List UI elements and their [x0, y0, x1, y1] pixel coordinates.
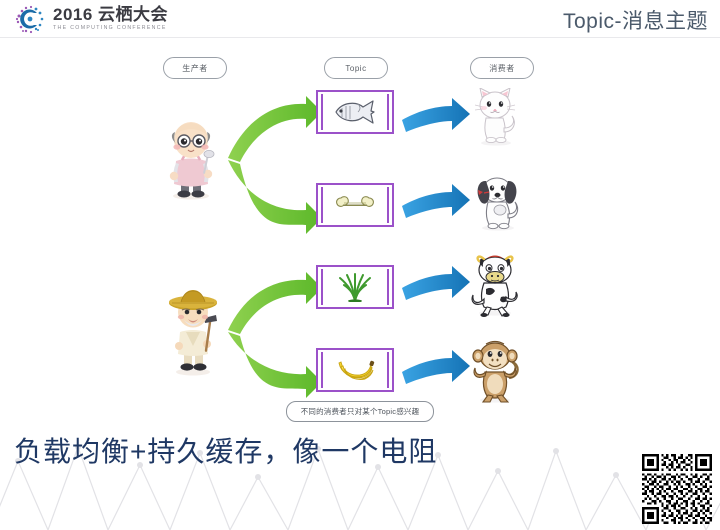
consume-arrow-cow — [402, 266, 470, 300]
logo-sub-text: THE COMPUTING CONFERENCE — [53, 26, 168, 31]
column-label-consumer: 消费者 — [470, 57, 534, 79]
consume-arrow-dog — [402, 184, 470, 218]
producer-farmer — [160, 288, 226, 381]
slide-canvas: 2016 云栖大会 THE COMPUTING CONFERENCE Topic… — [0, 0, 720, 530]
diagram-caption: 不同的消费者只对某个Topic感兴趣 — [286, 401, 434, 422]
page-title: Topic-消息主题 — [563, 5, 708, 35]
logo-main-text: 2016 云栖大会 — [53, 6, 168, 23]
producer-old-man-cook — [160, 118, 222, 205]
topic-box-bone[interactable] — [316, 183, 394, 227]
conference-logo: 2016 云栖大会 THE COMPUTING CONFERENCE — [14, 3, 168, 35]
produce-arrow-banana — [228, 332, 322, 398]
qr-code[interactable] — [642, 454, 712, 524]
consumer-cow — [464, 253, 526, 322]
topic-box-fish[interactable] — [316, 90, 394, 134]
consumer-monkey — [466, 338, 524, 409]
consumer-cat — [470, 88, 524, 151]
fish-icon — [332, 98, 378, 126]
header-divider — [0, 37, 720, 38]
column-label-topic: Topic — [324, 57, 388, 79]
produce-arrow-fish — [228, 96, 322, 162]
topic-box-banana[interactable] — [316, 348, 394, 392]
produce-arrow-grass — [228, 272, 322, 334]
bone-icon — [333, 194, 377, 216]
consume-arrow-monkey — [402, 350, 470, 384]
footer-headline: 负载均衡+持久缓存，像一个电阻 — [14, 430, 437, 470]
aliyun-cloud-dots-logo-icon — [14, 3, 46, 35]
column-label-producer: 生产者 — [163, 57, 227, 79]
produce-arrow-bone — [228, 160, 322, 234]
grass-icon — [335, 272, 375, 302]
consumer-dog — [470, 172, 526, 237]
consume-arrow-cat — [402, 98, 470, 132]
banana-icon — [333, 357, 377, 383]
topic-box-grass[interactable] — [316, 265, 394, 309]
